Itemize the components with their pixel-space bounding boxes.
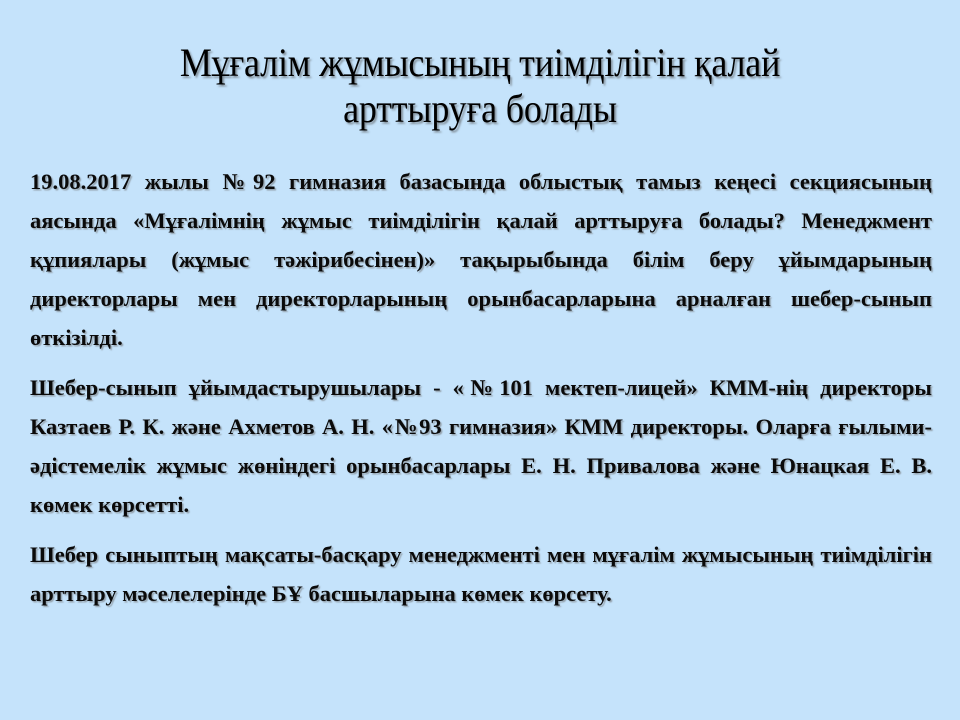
slide-title: Мұғалім жұмысының тиімділігін қалай артт… xyxy=(48,40,912,132)
body-paragraph-1: 19.08.2017 жылы №92 гимназия базасында о… xyxy=(30,162,932,357)
slide-title-text: Мұғалім жұмысының тиімділігін қалай артт… xyxy=(91,40,869,132)
presentation-slide: Мұғалім жұмысының тиімділігін қалай артт… xyxy=(0,0,960,720)
body-paragraph-3: Шебер сыныптың мақсаты-басқару менеджмен… xyxy=(30,535,932,613)
body-paragraph-2: Шебер-сынып ұйымдастырушылары - «№101 ме… xyxy=(30,368,932,524)
slide-body: 19.08.2017 жылы №92 гимназия базасында о… xyxy=(30,162,932,613)
